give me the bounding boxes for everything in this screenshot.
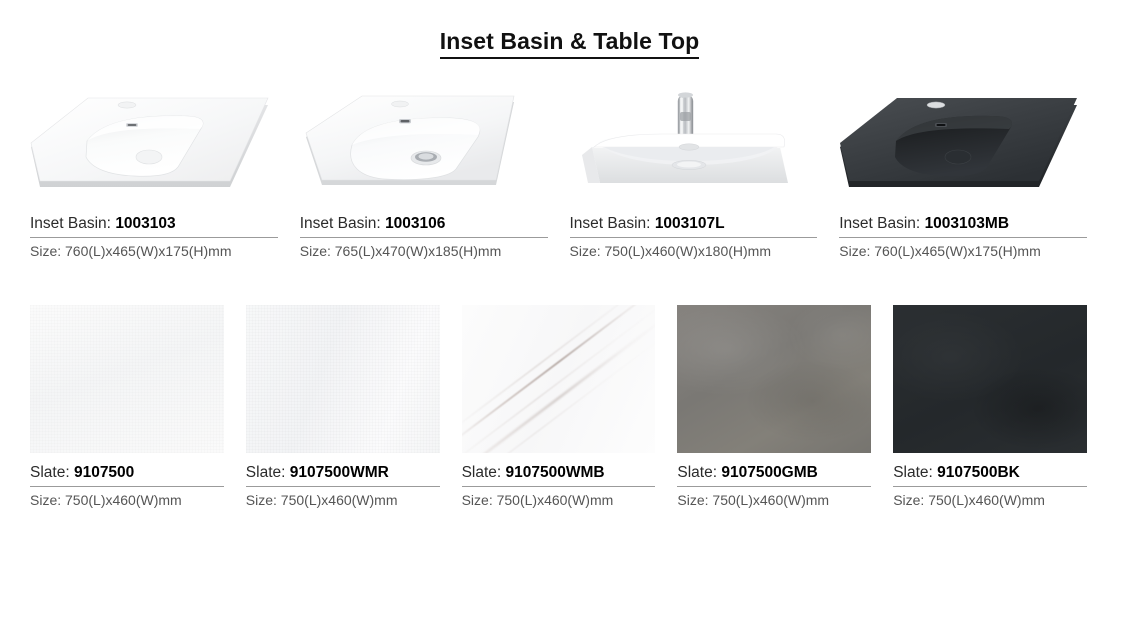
product-caption-9107500GMB: Slate: 9107500GMB	[677, 464, 871, 487]
product-card-inset-basin-1003106[interactable]: Inset Basin: 1003106 Size: 765(L)x470(W)…	[300, 85, 570, 259]
product-label: Slate:	[677, 464, 717, 481]
product-size-1003107L: Size: 750(L)x460(W)x180(H)mm	[570, 238, 818, 259]
inset-basin-row: Inset Basin: 1003103 Size: 760(L)x465(W)…	[0, 59, 1139, 259]
slate-swatch-grey-marble-icon	[677, 305, 871, 453]
product-code: 9107500	[74, 464, 134, 481]
product-label: Inset Basin:	[300, 215, 381, 232]
product-card-slate-9107500GMB[interactable]: Slate: 9107500GMB Size: 750(L)x460(W)mm	[677, 305, 893, 508]
product-size-1003103: Size: 760(L)x465(W)x175(H)mm	[30, 238, 278, 259]
product-code: 1003103MB	[925, 215, 1009, 232]
product-label: Inset Basin:	[30, 215, 111, 232]
marble-vein	[462, 305, 656, 453]
page-title: Inset Basin & Table Top	[440, 28, 700, 59]
product-size-1003106: Size: 765(L)x470(W)x185(H)mm	[300, 238, 548, 259]
slate-swatch-white-marble-r-icon	[246, 305, 440, 453]
product-caption-9107500WMB: Slate: 9107500WMB	[462, 464, 656, 487]
product-size-9107500GMB: Size: 750(L)x460(W)mm	[677, 487, 871, 508]
page-title-container: Inset Basin & Table Top	[0, 0, 1139, 59]
product-card-inset-basin-1003103MB[interactable]: Inset Basin: 1003103MB Size: 760(L)x465(…	[839, 85, 1109, 259]
product-card-inset-basin-1003107L[interactable]: Inset Basin: 1003107L Size: 750(L)x460(W…	[570, 85, 840, 259]
inset-basin-rect-black-icon	[839, 85, 1079, 210]
product-caption-1003106: Inset Basin: 1003106	[300, 215, 548, 238]
product-image-1003107L	[570, 85, 818, 215]
product-caption-1003107L: Inset Basin: 1003107L	[570, 215, 818, 238]
product-card-slate-9107500WMR[interactable]: Slate: 9107500WMR Size: 750(L)x460(W)mm	[246, 305, 462, 508]
product-size-9107500WMR: Size: 750(L)x460(W)mm	[246, 487, 440, 508]
product-label: Inset Basin:	[839, 215, 920, 232]
inset-basin-slim-with-faucet-icon	[570, 85, 806, 210]
product-caption-1003103: Inset Basin: 1003103	[30, 215, 278, 238]
slate-swatch-row: Slate: 9107500 Size: 750(L)x460(W)mm Sla…	[0, 259, 1139, 508]
product-card-slate-9107500WMB[interactable]: Slate: 9107500WMB Size: 750(L)x460(W)mm	[462, 305, 678, 508]
product-code: 1003106	[385, 215, 445, 232]
product-caption-9107500WMR: Slate: 9107500WMR	[246, 464, 440, 487]
product-label: Slate:	[30, 464, 70, 481]
product-size-9107500WMB: Size: 750(L)x460(W)mm	[462, 487, 656, 508]
slate-swatch-white-marble-b-icon	[462, 305, 656, 453]
product-card-inset-basin-1003103[interactable]: Inset Basin: 1003103 Size: 760(L)x465(W)…	[30, 85, 300, 259]
product-size-9107500BK: Size: 750(L)x460(W)mm	[893, 487, 1087, 508]
product-label: Inset Basin:	[570, 215, 651, 232]
slate-swatch-white-icon	[30, 305, 224, 453]
product-size-1003103MB: Size: 760(L)x465(W)x175(H)mm	[839, 238, 1087, 259]
product-label: Slate:	[462, 464, 502, 481]
inset-basin-rect-white-icon	[30, 85, 270, 210]
product-image-1003103MB	[839, 85, 1087, 215]
product-card-slate-9107500BK[interactable]: Slate: 9107500BK Size: 750(L)x460(W)mm	[893, 305, 1109, 508]
inset-basin-curved-white-icon	[300, 85, 536, 210]
product-image-1003103	[30, 85, 278, 215]
product-image-1003106	[300, 85, 548, 215]
product-code: 9107500WMR	[290, 464, 389, 481]
product-code: 1003107L	[655, 215, 725, 232]
product-code: 9107500WMB	[506, 464, 605, 481]
product-code: 9107500GMB	[721, 464, 818, 481]
product-label: Slate:	[893, 464, 933, 481]
marble-vein	[462, 333, 656, 453]
product-size-9107500: Size: 750(L)x460(W)mm	[30, 487, 224, 508]
product-code: 9107500BK	[937, 464, 1020, 481]
product-card-slate-9107500[interactable]: Slate: 9107500 Size: 750(L)x460(W)mm	[30, 305, 246, 508]
product-caption-9107500BK: Slate: 9107500BK	[893, 464, 1087, 487]
product-code: 1003103	[115, 215, 175, 232]
marble-vein	[462, 305, 656, 432]
product-label: Slate:	[246, 464, 286, 481]
product-caption-9107500: Slate: 9107500	[30, 464, 224, 487]
product-caption-1003103MB: Inset Basin: 1003103MB	[839, 215, 1087, 238]
slate-swatch-black-icon	[893, 305, 1087, 453]
